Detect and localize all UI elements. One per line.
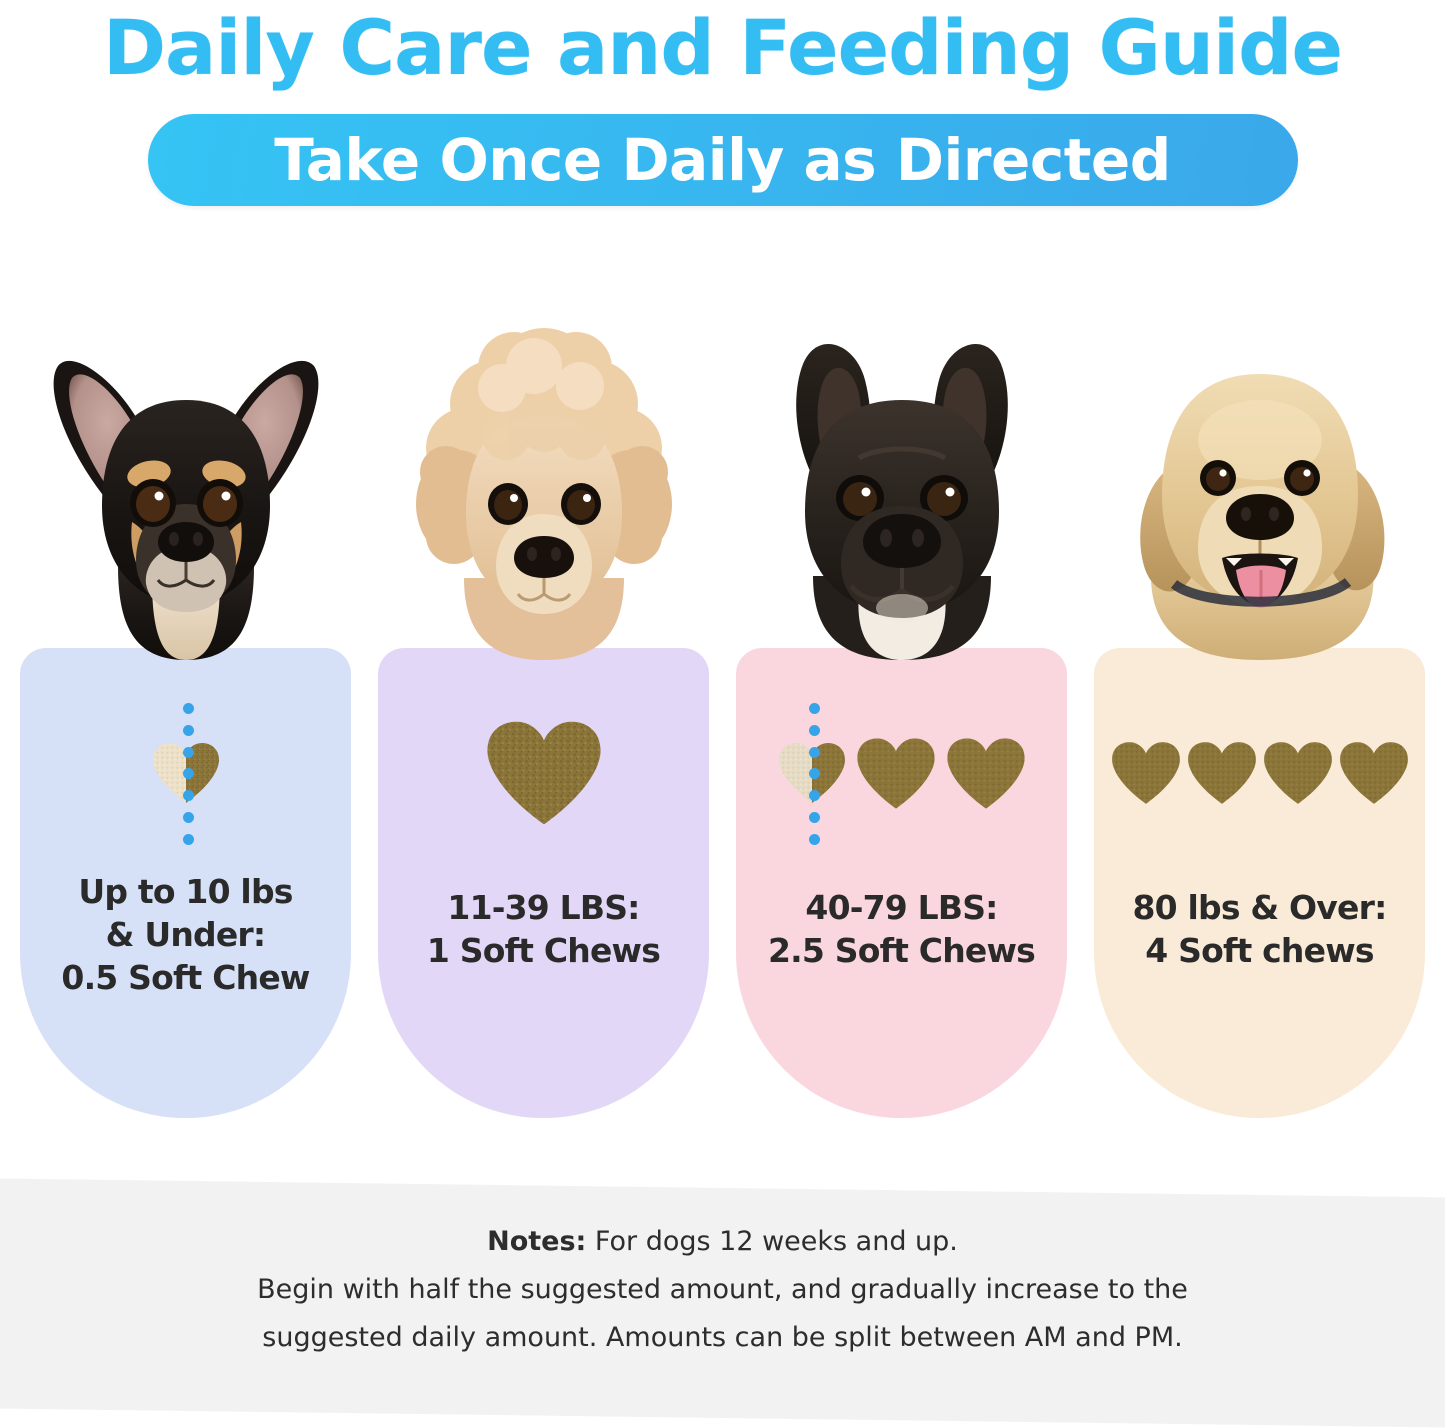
dosage-pocket-40-79-lbs: 40-79 LBS: 2.5 Soft Chews — [736, 648, 1067, 1118]
page-title: Daily Care and Feeding Guide — [0, 4, 1445, 92]
notes-line-2: Begin with half the suggested amount, an… — [0, 1266, 1445, 1314]
directions-banner-wrap: Take Once Daily as Directed — [0, 114, 1445, 206]
chew-full — [1110, 740, 1182, 806]
dosage-label-line: 11-39 LBS: — [382, 886, 705, 929]
split-dot — [183, 725, 194, 736]
half-dose-split-line — [809, 703, 820, 845]
notes-label: Notes: — [487, 1226, 586, 1257]
poodle-photo — [378, 300, 709, 660]
split-dot — [183, 747, 194, 758]
dosage-label-80-lbs-and-over: 80 lbs & Over: 4 Soft chews — [1094, 886, 1425, 972]
notes-line-3: suggested daily amount. Amounts can be s… — [0, 1314, 1445, 1362]
dosage-label-line: 1 Soft Chews — [382, 929, 705, 972]
chew-full — [1262, 740, 1334, 806]
chew-full — [945, 736, 1027, 811]
split-dot — [183, 812, 194, 823]
split-dot — [809, 790, 820, 801]
split-dot — [809, 747, 820, 758]
golden-retriever-photo — [1094, 300, 1425, 660]
dosage-label-up-to-10-lbs: Up to 10 lbs & Under: 0.5 Soft Chew — [20, 870, 351, 999]
notes-line-1-rest: For dogs 12 weeks and up. — [586, 1226, 958, 1257]
chew-row — [20, 698, 351, 848]
header: Daily Care and Feeding Guide Take Once D… — [0, 0, 1445, 206]
split-dot — [809, 834, 820, 845]
directions-banner-label: Take Once Daily as Directed — [274, 129, 1171, 191]
chew-row — [1094, 698, 1425, 848]
dosage-label-line: 0.5 Soft Chew — [24, 956, 347, 999]
dosage-card-up-to-10-lbs: Up to 10 lbs & Under: 0.5 Soft Chew — [20, 300, 351, 1130]
split-dot — [183, 703, 194, 714]
dosage-label-line: 2.5 Soft Chews — [740, 929, 1063, 972]
dosage-label-line: & Under: — [24, 913, 347, 956]
dosage-card-row: Up to 10 lbs & Under: 0.5 Soft Chew — [0, 300, 1445, 1130]
dosage-pocket-up-to-10-lbs: Up to 10 lbs & Under: 0.5 Soft Chew — [20, 648, 351, 1118]
chew-half — [151, 741, 221, 805]
chew-full — [1338, 740, 1410, 806]
notes-line-1: Notes: For dogs 12 weeks and up. — [0, 1218, 1445, 1266]
dosage-pocket-80-lbs-and-over: 80 lbs & Over: 4 Soft chews — [1094, 648, 1425, 1118]
chew-full — [855, 736, 937, 811]
split-dot — [809, 725, 820, 736]
chew-full — [484, 718, 604, 828]
split-dot — [809, 768, 820, 779]
split-dot — [183, 768, 194, 779]
chew-full — [1186, 740, 1258, 806]
dosage-card-11-39-lbs: 11-39 LBS: 1 Soft Chews — [378, 300, 709, 1130]
split-dot — [809, 703, 820, 714]
chew-row — [736, 698, 1067, 848]
chew-row — [378, 698, 709, 848]
chew-half — [777, 741, 847, 805]
dosage-pocket-11-39-lbs: 11-39 LBS: 1 Soft Chews — [378, 648, 709, 1118]
split-dot — [183, 834, 194, 845]
dosage-card-80-lbs-and-over: 80 lbs & Over: 4 Soft chews — [1094, 300, 1425, 1130]
dosage-label-40-79-lbs: 40-79 LBS: 2.5 Soft Chews — [736, 886, 1067, 972]
half-dose-split-line — [183, 703, 194, 845]
dosage-label-line: Up to 10 lbs — [24, 870, 347, 913]
notes-section: Notes: For dogs 12 weeks and up. Begin w… — [0, 1218, 1445, 1362]
dosage-card-40-79-lbs: 40-79 LBS: 2.5 Soft Chews — [736, 300, 1067, 1130]
dosage-label-line: 40-79 LBS: — [740, 886, 1063, 929]
dosage-label-line: 4 Soft chews — [1098, 929, 1421, 972]
chihuahua-photo — [20, 300, 351, 660]
french-bulldog-photo — [736, 300, 1067, 660]
split-dot — [183, 790, 194, 801]
dosage-label-line: 80 lbs & Over: — [1098, 886, 1421, 929]
split-dot — [809, 812, 820, 823]
directions-banner: Take Once Daily as Directed — [148, 114, 1298, 206]
dosage-label-11-39-lbs: 11-39 LBS: 1 Soft Chews — [378, 886, 709, 972]
